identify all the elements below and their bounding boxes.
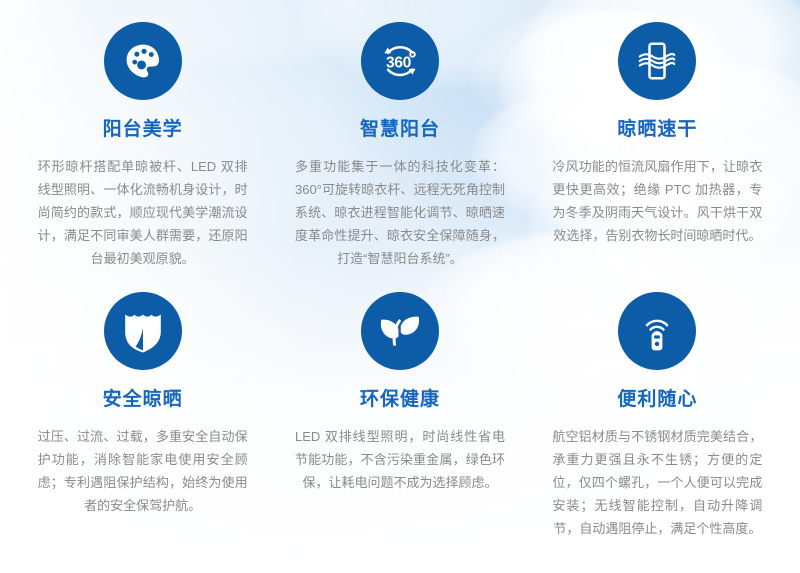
feature-card: 便利随心 航空铝材质与不锈钢材质完美结合，承重力更强且永不生锈；方便的定位，仅四… <box>529 292 786 562</box>
feature-title: 阳台美学 <box>103 120 183 139</box>
feature-body: 过压、过流、过载，多重安全自动保护功能，消除智能家电使用安全顾虑；专利遇阻保护结… <box>38 425 248 517</box>
feature-card: 360 智慧阳台 多重功能集于一体的科技化变革：360°可旋转晾衣杆、远程无死角… <box>271 22 528 292</box>
feature-body: 环形晾杆搭配单晾被杆、LED 双排线型照明、一体化流畅机身设计，时尚简约的款式，… <box>38 155 248 270</box>
feature-title: 便利随心 <box>617 390 697 409</box>
feature-title: 智慧阳台 <box>360 120 440 139</box>
feature-body: 航空铝材质与不锈钢材质完美结合，承重力更强且永不生锈；方便的定位，仅四个螺孔，一… <box>552 425 762 540</box>
feature-body: LED 双排线型照明，时尚线性省电节能功能，不含污染重金属，绿色环保，让耗电问题… <box>295 425 505 494</box>
feature-body: 多重功能集于一体的科技化变革：360°可旋转晾衣杆、远程无死角控制系统、晾衣进程… <box>295 155 505 270</box>
remote-control-icon <box>618 292 696 370</box>
feature-body: 冷风功能的恒流风扇作用下，让晾衣更快更高效；绝缘 PTC 加热器，专为冬季及阴雨… <box>552 155 762 247</box>
leaf-icon <box>361 292 439 370</box>
palette-icon <box>104 22 182 100</box>
feature-grid: 阳台美学 环形晾杆搭配单晾被杆、LED 双排线型照明、一体化流畅机身设计，时尚简… <box>0 0 800 562</box>
feature-title: 环保健康 <box>360 390 440 409</box>
feature-card: 环保健康 LED 双排线型照明，时尚线性省电节能功能，不含污染重金属，绿色环保，… <box>271 292 528 562</box>
feature-card: 晾晒速干 冷风功能的恒流风扇作用下，让晾衣更快更高效；绝缘 PTC 加热器，专为… <box>529 22 786 292</box>
feature-title: 晾晒速干 <box>617 120 697 139</box>
feature-card: 安全晾晒 过压、过流、过载，多重安全自动保护功能，消除智能家电使用安全顾虑；专利… <box>14 292 271 562</box>
feature-title: 安全晾晒 <box>103 390 183 409</box>
wind-airflow-icon <box>618 22 696 100</box>
360-rotate-icon: 360 <box>361 22 439 100</box>
feature-card: 阳台美学 环形晾杆搭配单晾被杆、LED 双排线型照明、一体化流畅机身设计，时尚简… <box>14 22 271 292</box>
svg-text:360: 360 <box>386 54 412 71</box>
shield-icon <box>104 292 182 370</box>
